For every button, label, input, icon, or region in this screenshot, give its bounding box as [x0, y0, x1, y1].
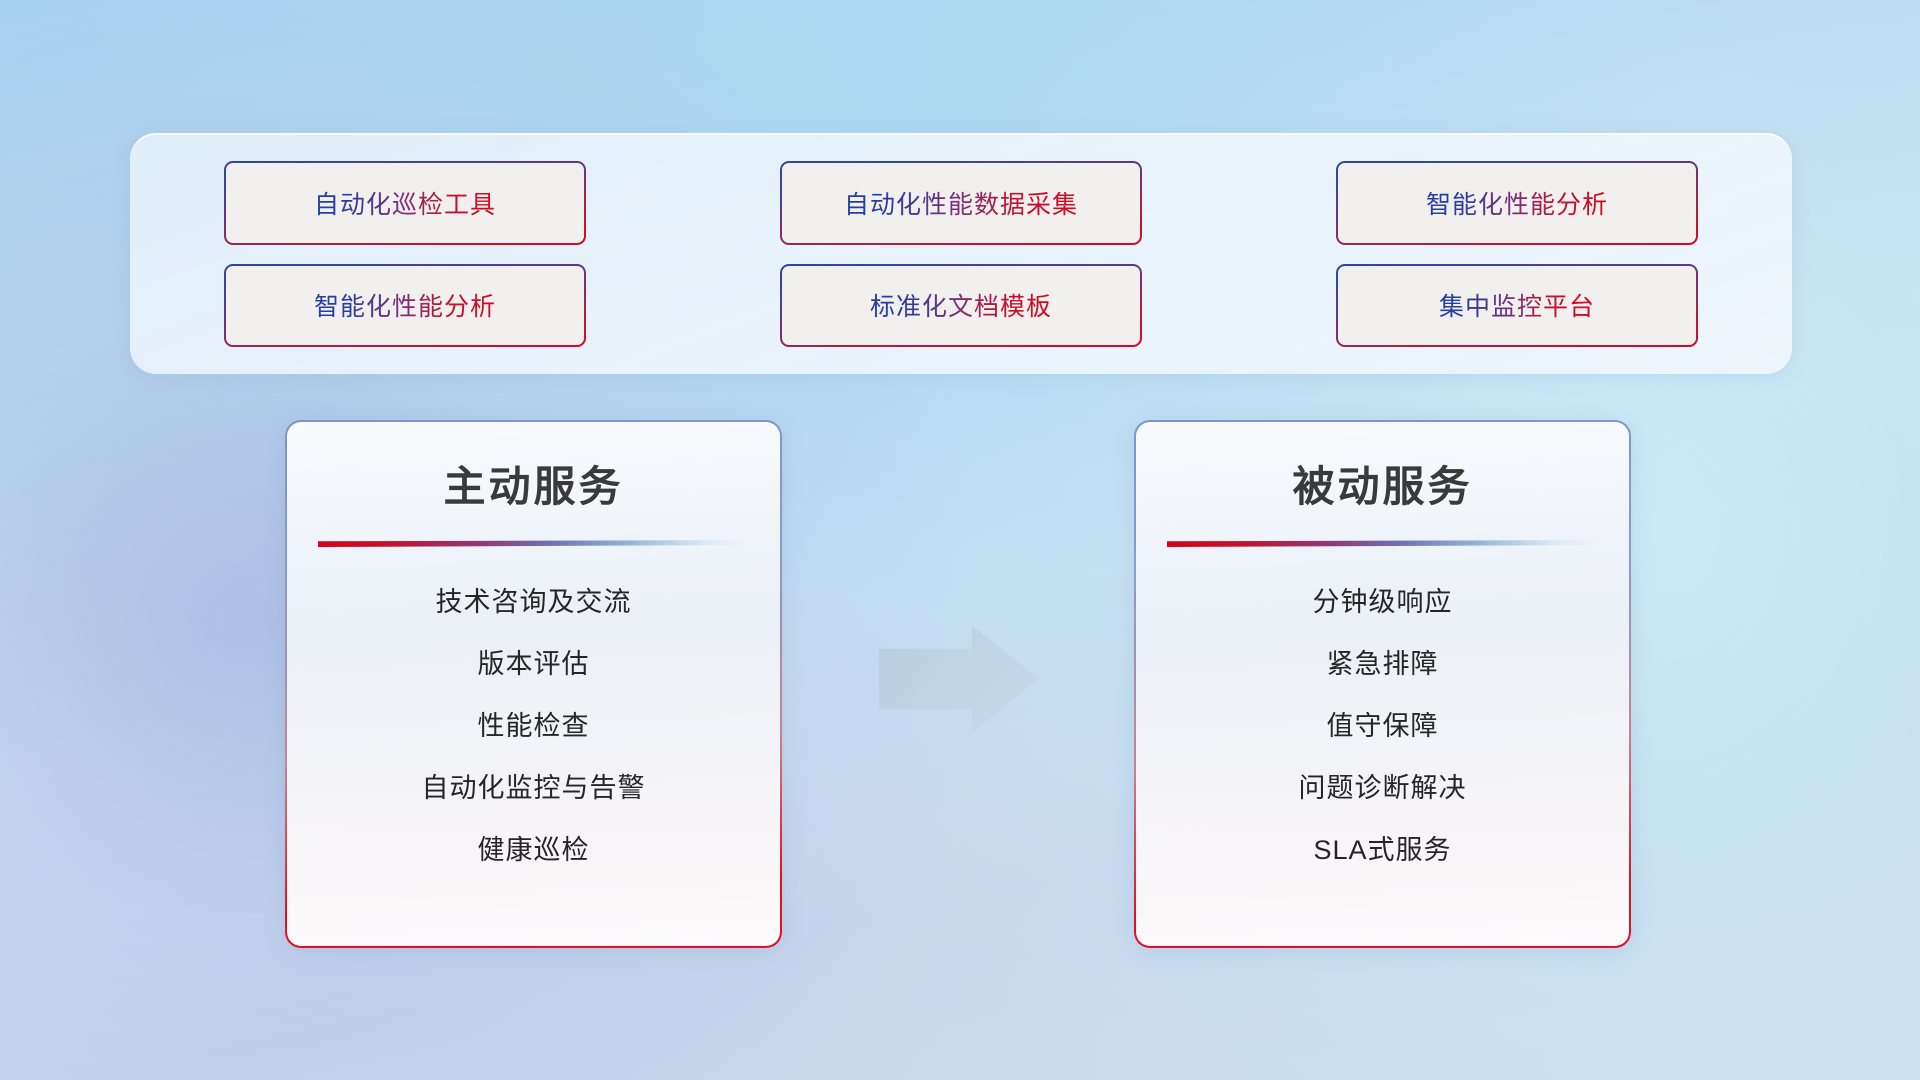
service-card-body: 被动服务 分钟级响应 紧急排障 值守保障 问题诊断解决 SLA式服务 — [1138, 424, 1627, 944]
list-item: SLA式服务 — [1313, 828, 1451, 867]
title-divider — [318, 540, 750, 547]
list-item: 问题诊断解决 — [1299, 766, 1467, 805]
service-card-reactive: 被动服务 分钟级响应 紧急排障 值守保障 问题诊断解决 SLA式服务 — [1134, 420, 1631, 948]
arrow-right-icon — [879, 625, 1039, 733]
capability-tag[interactable]: 自动化性能数据采集 — [780, 161, 1142, 245]
capability-tag-label: 标准化文档模板 — [870, 287, 1052, 323]
list-item: 健康巡检 — [478, 828, 590, 867]
service-item-list: 技术咨询及交流 版本评估 性能检查 自动化监控与告警 健康巡检 — [289, 580, 778, 867]
list-item: 值守保障 — [1327, 704, 1439, 743]
list-item: 版本评估 — [478, 642, 590, 681]
service-card-title: 主动服务 — [443, 453, 623, 514]
service-card-proactive: 主动服务 技术咨询及交流 版本评估 性能检查 自动化监控与告警 健康巡检 — [285, 420, 782, 948]
service-card-body: 主动服务 技术咨询及交流 版本评估 性能检查 自动化监控与告警 健康巡检 — [289, 424, 778, 944]
capability-tag[interactable]: 智能化性能分析 — [1336, 161, 1698, 245]
list-item: 自动化监控与告警 — [422, 766, 646, 805]
title-divider — [1167, 540, 1599, 547]
service-card-title: 被动服务 — [1292, 453, 1472, 514]
capability-tag[interactable]: 智能化性能分析 — [224, 264, 586, 348]
capability-tag-label: 自动化巡检工具 — [314, 185, 496, 221]
capability-tag-label: 集中监控平台 — [1439, 287, 1595, 323]
capabilities-tag-grid: 自动化巡检工具 自动化性能数据采集 智能化性能分析 智能化性能分析 标准化文档模… — [130, 134, 1792, 374]
list-item: 技术咨询及交流 — [436, 580, 632, 619]
slide-canvas: 自动化巡检工具 自动化性能数据采集 智能化性能分析 智能化性能分析 标准化文档模… — [0, 0, 1920, 1080]
capability-tag[interactable]: 自动化巡检工具 — [224, 161, 586, 245]
list-item: 紧急排障 — [1327, 642, 1439, 681]
capability-tag-label: 智能化性能分析 — [1426, 185, 1608, 221]
list-item: 性能检查 — [478, 704, 590, 743]
service-item-list: 分钟级响应 紧急排障 值守保障 问题诊断解决 SLA式服务 — [1138, 580, 1627, 867]
capability-tag-label: 智能化性能分析 — [314, 287, 496, 323]
capability-tag-label: 自动化性能数据采集 — [844, 185, 1078, 221]
capabilities-panel: 自动化巡检工具 自动化性能数据采集 智能化性能分析 智能化性能分析 标准化文档模… — [130, 133, 1792, 374]
list-item: 分钟级响应 — [1313, 580, 1453, 619]
capability-tag[interactable]: 标准化文档模板 — [780, 264, 1142, 348]
capability-tag[interactable]: 集中监控平台 — [1336, 264, 1698, 348]
